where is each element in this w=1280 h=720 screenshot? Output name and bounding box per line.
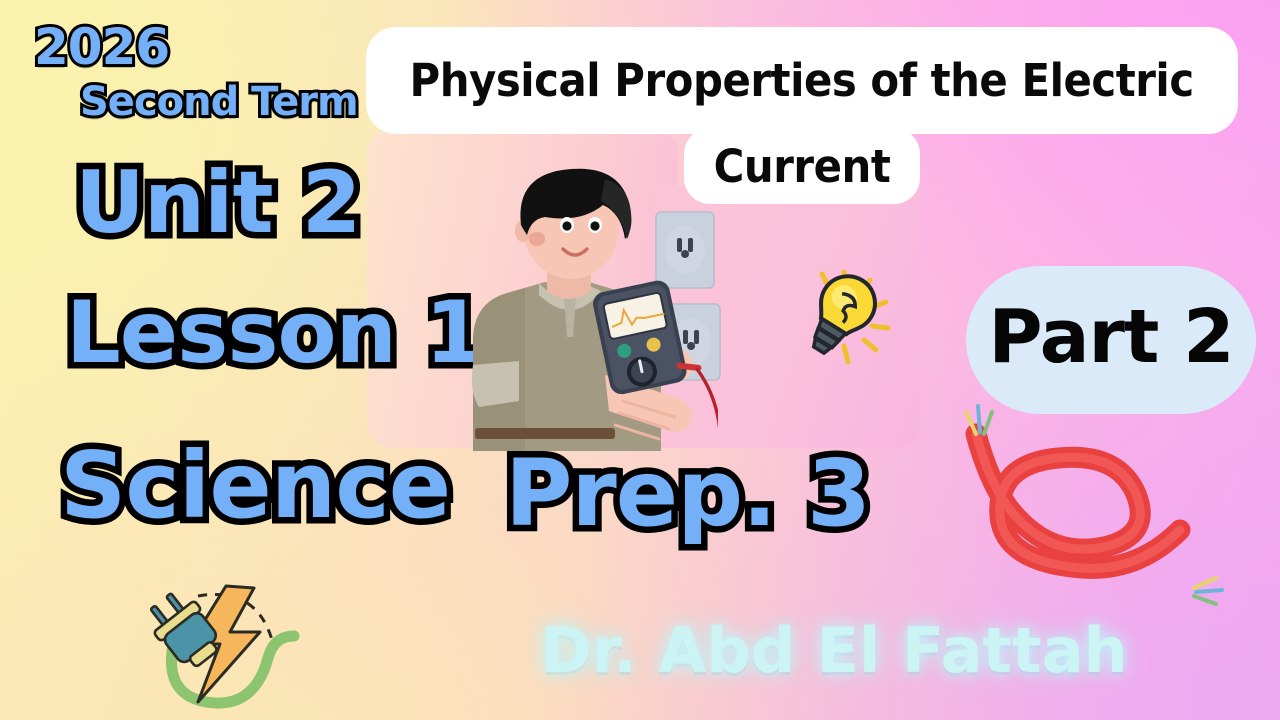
lesson-title-line1: Physical Properties of the Electric <box>410 58 1194 103</box>
lesson-title-line2: Current <box>714 144 891 189</box>
part-badge: Part 2 <box>966 266 1256 414</box>
part-badge-label: Part 2 <box>988 300 1233 374</box>
academic-year-label: 2026 <box>34 22 169 72</box>
grade-label: Prep. 3 <box>505 448 870 540</box>
light-bulb-icon <box>786 262 898 372</box>
multimeter-icon <box>588 272 718 452</box>
title-box-secondary: Current <box>684 128 920 204</box>
title-box-primary: Physical Properties of the Electric <box>366 27 1238 134</box>
subject-label: Science <box>60 440 450 532</box>
term-label: Second Term <box>80 82 358 122</box>
plug-lightning-icon <box>128 578 318 718</box>
lesson-label: Lesson 1 <box>66 290 484 376</box>
unit-label: Unit 2 <box>75 160 360 246</box>
red-cable-icon <box>940 404 1230 626</box>
thumbnail-canvas: Physical Properties of the Electric Curr… <box>0 0 1280 720</box>
